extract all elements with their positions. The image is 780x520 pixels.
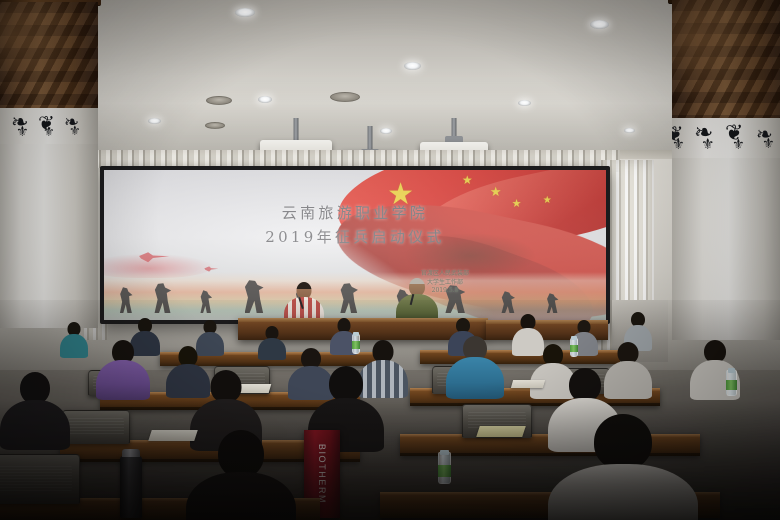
flag-star-small: ★	[462, 174, 473, 186]
person-torso	[258, 338, 286, 360]
slide-heading-line2: 2019年征兵启动仪式	[104, 226, 606, 247]
person-head	[569, 368, 601, 402]
recessed-downlight	[590, 20, 609, 29]
ceiling-vent	[330, 92, 360, 102]
decorative-column-right: ❦ ❧ ❦ ❧ ⚜ ⚜ ⚜ ⚜	[672, 0, 780, 330]
tribal-motif-icon: ⚜	[0, 126, 2, 139]
projection-screen: ★ ★ ★ ★ ★	[104, 170, 606, 320]
bottle-cap	[353, 332, 358, 336]
person-torso	[60, 334, 88, 358]
person-torso	[96, 360, 150, 400]
recessed-downlight	[518, 100, 531, 106]
tribal-motif-icon: ⚜	[672, 138, 685, 152]
recessed-downlight	[235, 8, 255, 17]
audience-person	[258, 326, 286, 358]
slide-heading-line1: 云南旅游职业学院	[104, 202, 606, 223]
flag-star-small: ★	[490, 186, 502, 199]
column-carved-section	[0, 2, 98, 110]
audience-person	[60, 322, 88, 356]
person-torso	[446, 357, 504, 399]
recessed-downlight	[148, 118, 161, 124]
column-pattern-band: ❦ ❧ ❦ ❧ ⚜ ⚜ ⚜ ⚜	[0, 108, 98, 146]
audience-person-purple-shirt	[96, 340, 150, 396]
person-head	[329, 366, 363, 402]
recessed-downlight	[258, 96, 272, 103]
ceiling-vent	[205, 122, 225, 129]
recessed-downlight	[624, 128, 635, 133]
bottle-cap	[571, 336, 576, 340]
water-bottle	[726, 368, 737, 396]
decorative-column-left: ❦ ❧ ❦ ❧ ⚜ ⚜ ⚜ ⚜	[0, 0, 98, 324]
tribal-motif-icon: ⚜	[43, 126, 55, 139]
tribal-motif-icon: ⚜	[762, 137, 775, 151]
tribal-motif-icon: ⚜	[69, 125, 81, 138]
lecture-hall-photo: ★ ★ ★ ★ ★	[0, 0, 780, 520]
bottle-cap	[728, 368, 735, 373]
column-pattern-band: ❦ ❧ ❦ ❧ ⚜ ⚜ ⚜ ⚜	[672, 118, 780, 160]
tribal-motif-icon: ⚜	[16, 125, 29, 139]
audience-person-blue-shirt	[446, 336, 504, 396]
document-sheet	[511, 380, 545, 388]
ceiling-vent	[206, 96, 232, 105]
bottle-label	[726, 380, 737, 390]
tribal-motif-icon: ⚜	[701, 137, 714, 152]
tribal-motif-icon: ⚜	[732, 138, 745, 152]
recessed-downlight	[404, 62, 421, 70]
foreground-shadow	[0, 400, 780, 520]
column-carved-section	[672, 0, 780, 122]
